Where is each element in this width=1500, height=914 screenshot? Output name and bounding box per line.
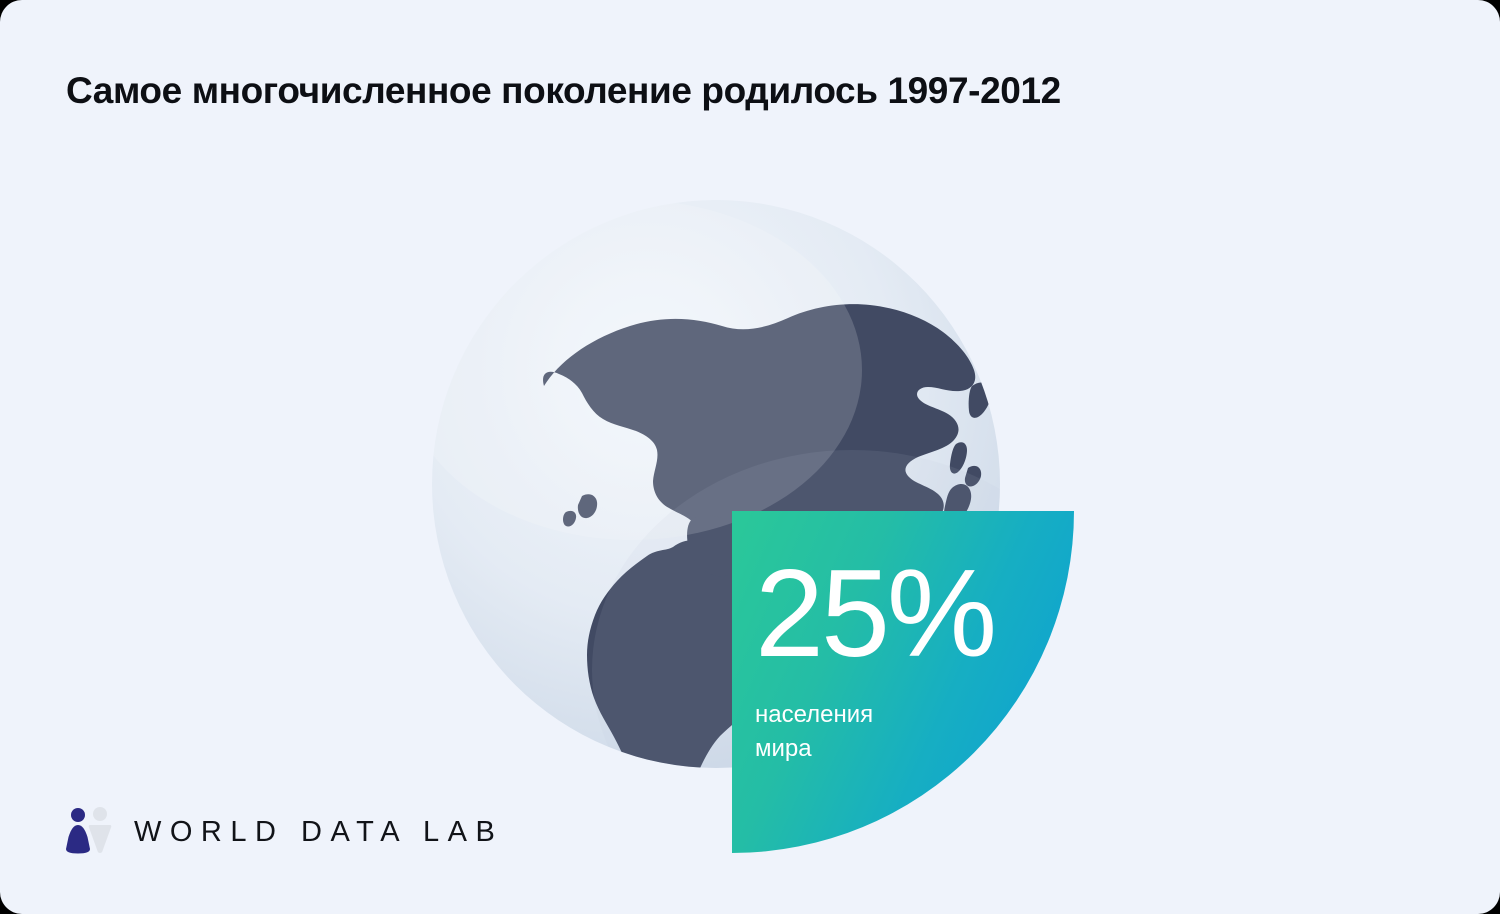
page-title: Самое многочисленное поколение родилось …: [66, 70, 1061, 112]
stat-wedge: [732, 511, 1074, 853]
logo-figure-dark-body: [66, 825, 90, 854]
logo-wordmark: WORLD DATA LAB: [134, 816, 503, 849]
logo-figure-light-head: [93, 807, 107, 821]
wedge-quarter-circle: [732, 511, 1074, 853]
infographic-card: Самое многочисленное поколение родилось …: [0, 0, 1500, 914]
logo-figure-dark-head: [71, 808, 85, 822]
brand-logo: WORLD DATA LAB: [66, 806, 503, 858]
world-data-lab-people-icon: [66, 806, 112, 858]
logo-figure-light-body: [89, 825, 112, 853]
